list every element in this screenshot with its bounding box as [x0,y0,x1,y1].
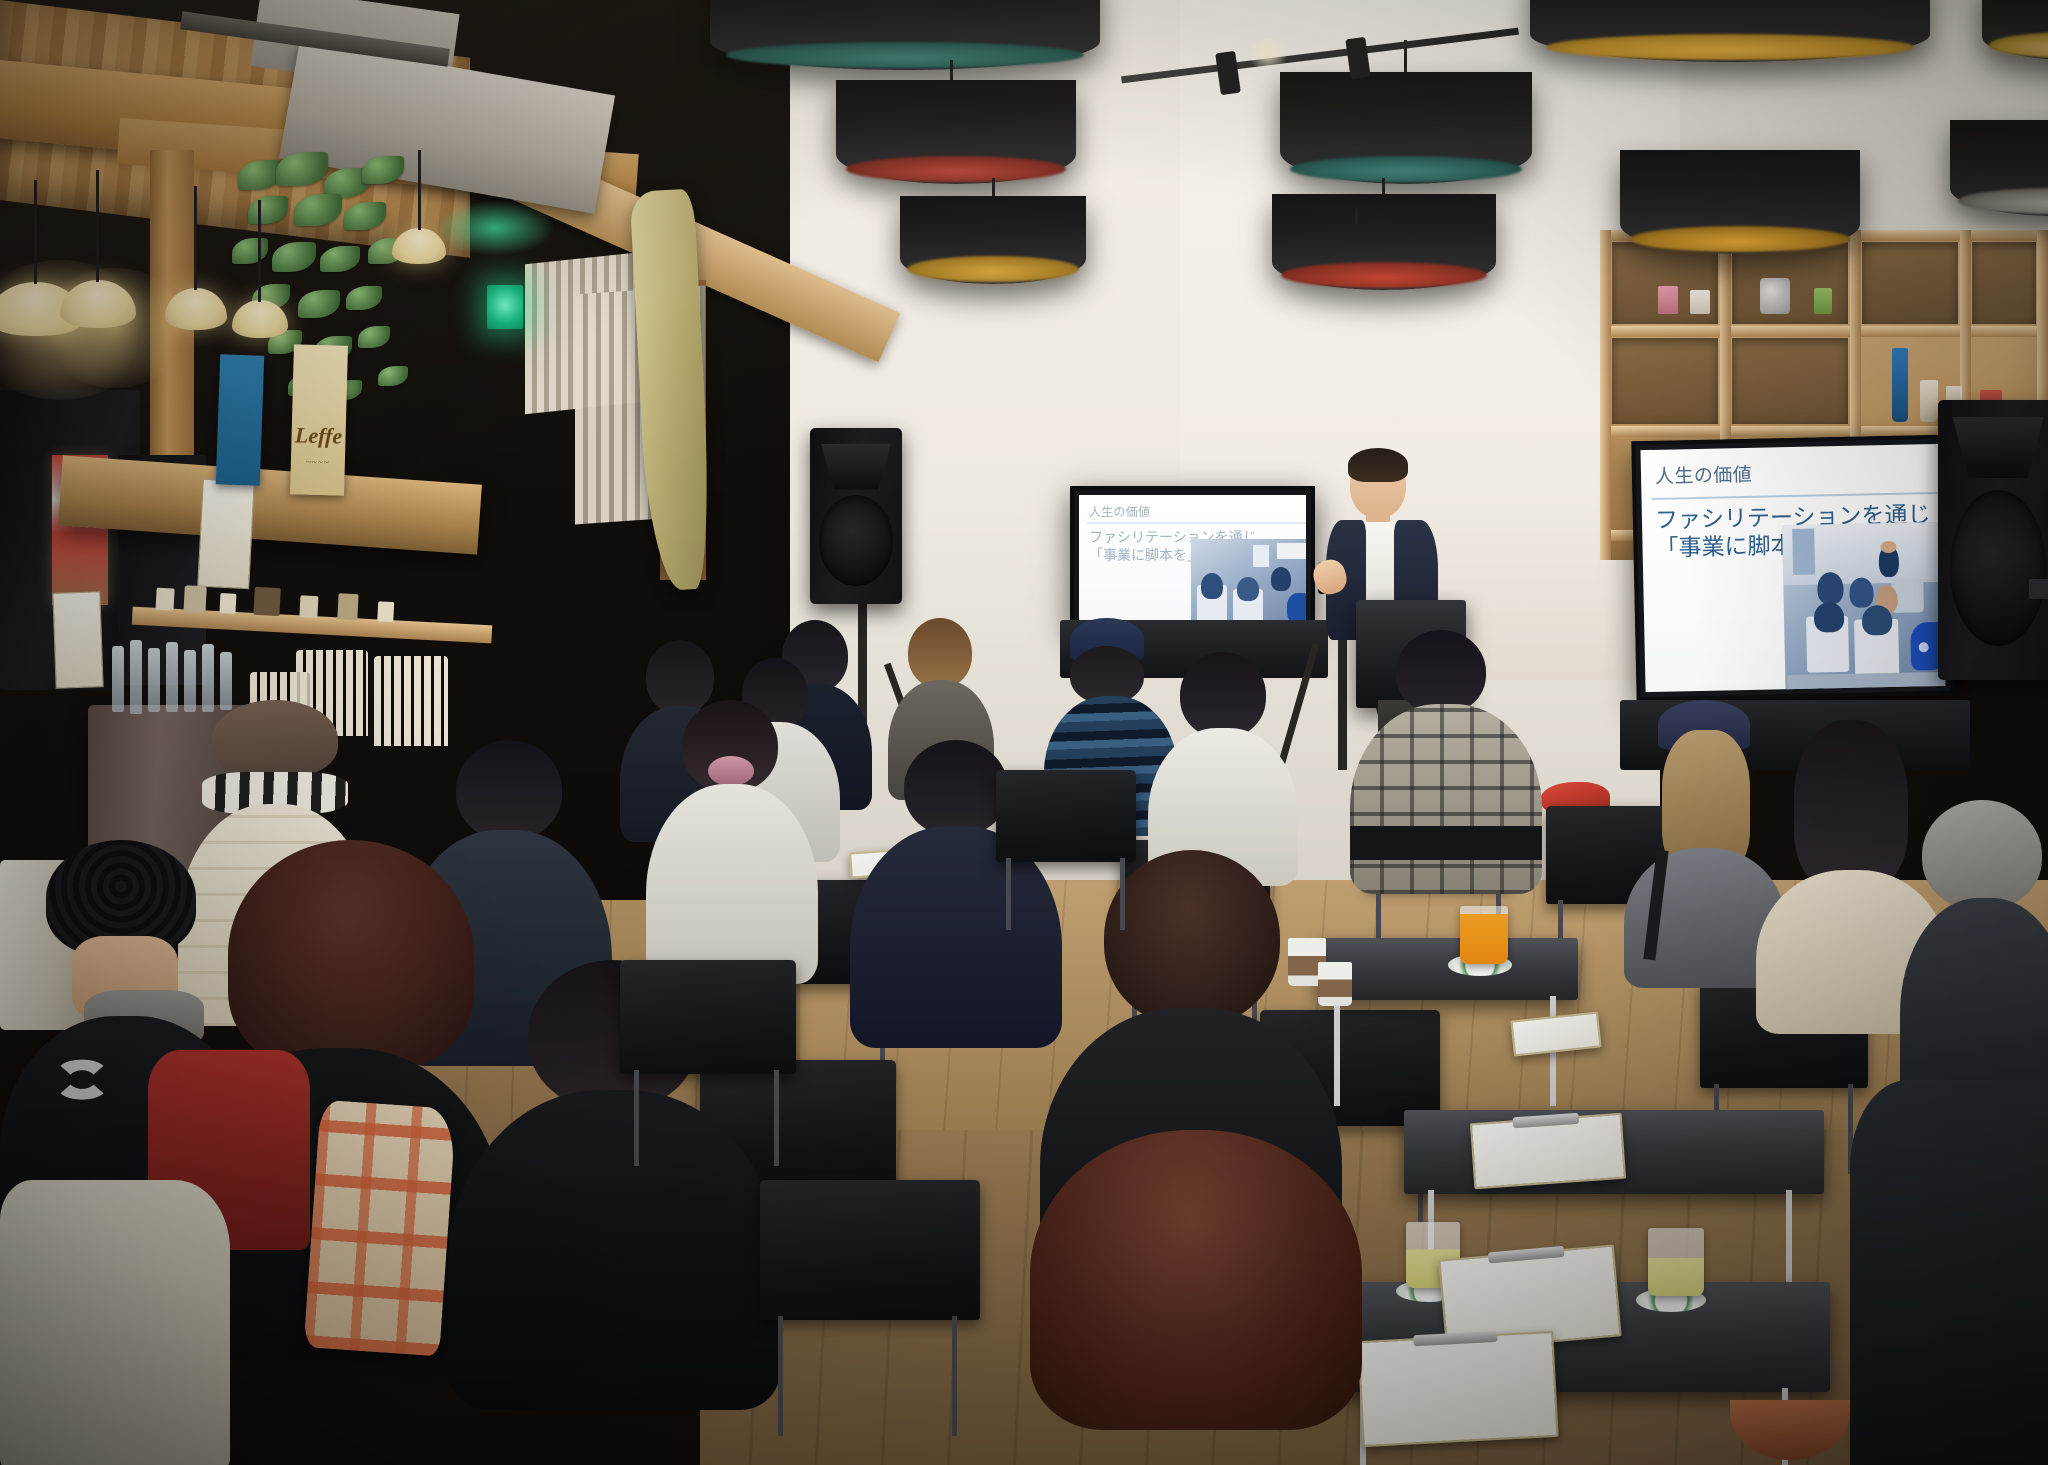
audience-member-auburn-foreground [1030,1130,1360,1465]
cup-pink [1658,286,1678,314]
table [1318,938,1578,1000]
glass-tumbler [1920,380,1938,422]
audience-member-grey-hair [1900,800,2048,1100]
pendant-lamp-1 [710,0,1100,70]
audience-member-foreground-right [1850,1080,2048,1465]
bottle-blue [1892,348,1908,422]
counter-poster [197,479,255,590]
pa-speaker-right [1938,400,2048,680]
main-slide-photo [1782,522,1945,692]
orange-plaid-scarf [304,1100,457,1357]
secondary-slide: 人生の価値 ファシリテーションを通じ 「事業に脚本を」。 [1079,495,1306,623]
main-display: 人生の価値 ファシリテーションを通じ 「事業に脚本を」。 [1631,435,1954,702]
clipboard [1357,1331,1558,1447]
clipboard [1470,1113,1626,1189]
brown-beret [212,700,338,778]
cafe-lamp-cord-2 [96,170,99,282]
cafe-lamp-cord-3 [194,186,197,290]
plastic-cup-juice [1648,1228,1704,1296]
chair-back-strap [1350,826,1542,860]
main-slide: 人生の価値 ファシリテーションを通じ 「事業に脚本を」。 [1640,444,1945,692]
under-armour-logo-icon [46,1056,118,1106]
pendant-cord-3 [992,178,995,198]
cup-green [1814,288,1832,314]
pendant-lamp-8 [1950,120,2048,216]
pendant-lamp-2 [836,80,1076,184]
plastic-cup-orange [1460,906,1508,964]
cafe-lamp-cord-4 [258,200,261,302]
long-dark-hair [1794,720,1908,890]
pendant-lamp-6 [1272,194,1496,290]
auburn-hair [228,840,474,1070]
chair [996,770,1136,862]
chair [760,1180,980,1320]
secondary-slide-photo [1191,539,1306,623]
white-folding-chair [0,1180,230,1465]
presenter-hair [1348,448,1408,482]
audience-member-white-sweater [1148,652,1296,882]
cafe-lamp-cord-1 [34,180,37,284]
leffe-banner-sign: Leffe ~~~~ [290,344,348,495]
exit-sign-glow [435,200,555,256]
pa-speaker-left [810,428,902,604]
pendant-lamp-4 [1530,0,1930,62]
secondary-slide-title: 人生の価値 [1089,503,1150,520]
pendant-lamp-3 [900,196,1086,284]
cafe-lamp-cord-5 [418,150,421,230]
kettle-silver [1760,278,1790,314]
counter-poster-2 [52,591,103,689]
chair [620,960,796,1074]
hair-scrunchie [708,756,754,786]
pendant-lamp-7 [1620,150,1860,254]
auburn-hair-2 [1030,1130,1362,1430]
pendant-lamp-5 [1280,72,1532,184]
emergency-exit-icon [487,285,523,329]
main-slide-title: 人生の価値 [1655,460,1752,489]
bar-stool-back-2 [374,656,448,746]
leffe-banner-text: Leffe [291,422,346,449]
secondary-slide-rule [1087,522,1306,524]
cup-white [1690,290,1710,314]
event-photo-scene: Leffe ~~~~ [0,0,2048,1465]
pa-speaker-badge [2029,579,2048,599]
audience-member-plaid-shirt [1350,630,1540,890]
audience-member-hairclip [646,700,816,980]
spotlight-bulb-glow [1244,38,1292,68]
main-slide-rule [1652,492,1938,500]
pendant-cord-7 [1355,208,1358,224]
secondary-display: 人生の価値 ファシリテーションを通じ 「事業に脚本を」。 [1070,486,1315,632]
blue-banner-sign [216,354,265,485]
